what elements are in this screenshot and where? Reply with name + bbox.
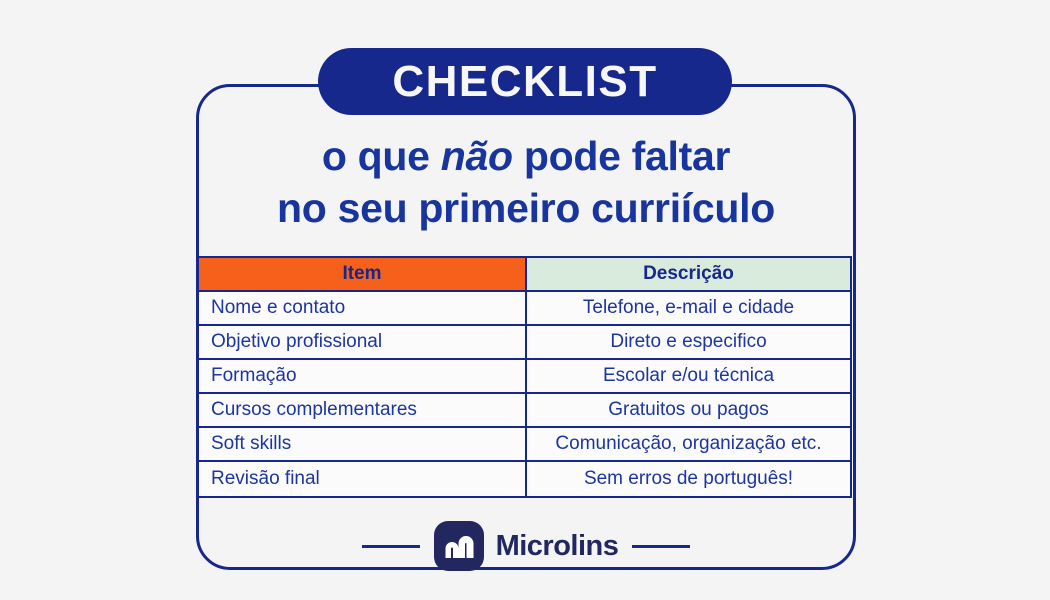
column-header-descricao: Descrição: [527, 258, 850, 290]
table-cell-item: Objetivo profissional: [199, 326, 527, 358]
table-header-row: Item Descrição: [199, 258, 850, 292]
table-cell-item: Formação: [199, 360, 527, 392]
table-row: Formação Escolar e/ou técnica: [199, 360, 850, 394]
table-cell-descricao: Sem erros de português!: [527, 462, 850, 496]
checklist-table: Item Descrição Nome e contato Telefone, …: [197, 256, 852, 498]
headline-line1-after: pode faltar: [513, 133, 730, 179]
table-cell-descricao: Telefone, e-mail e cidade: [527, 292, 850, 324]
headline-line1-before: o que: [322, 133, 441, 179]
table-row: Revisão final Sem erros de português!: [199, 462, 850, 496]
microlins-logo-icon: [434, 521, 484, 571]
divider-line-right: [632, 545, 690, 548]
table-cell-descricao-text: Gratuitos ou pagos: [608, 399, 769, 421]
table-cell-item: Nome e contato: [199, 292, 527, 324]
table-cell-item-text: Revisão final: [211, 468, 320, 490]
table-cell-item: Revisão final: [199, 462, 527, 496]
table-cell-item: Cursos complementares: [199, 394, 527, 426]
table-cell-item-text: Nome e contato: [211, 297, 345, 319]
footer-branding: Microlins: [196, 518, 856, 574]
table-cell-descricao: Comunicação, organização etc.: [527, 428, 850, 460]
table-cell-item-text: Soft skills: [211, 433, 291, 455]
table-cell-descricao: Gratuitos ou pagos: [527, 394, 850, 426]
column-header-item: Item: [199, 258, 527, 290]
divider-line-left: [362, 545, 420, 548]
table-cell-item-text: Cursos complementares: [211, 399, 417, 421]
table-row: Soft skills Comunicação, organização etc…: [199, 428, 850, 462]
table-cell-descricao: Direto e especifico: [527, 326, 850, 358]
table-cell-descricao-text: Escolar e/ou técnica: [603, 365, 774, 387]
table-row: Objetivo profissional Direto e especific…: [199, 326, 850, 360]
table-cell-item: Soft skills: [199, 428, 527, 460]
microlins-logo-text: Microlins: [496, 530, 619, 563]
headline-line-1: o que não pode faltar: [196, 130, 856, 182]
column-header-descricao-label: Descrição: [643, 263, 734, 285]
table-row: Nome e contato Telefone, e-mail e cidade: [199, 292, 850, 326]
table-cell-descricao-text: Direto e especifico: [610, 331, 766, 353]
table-cell-item-text: Formação: [211, 365, 297, 387]
page-title: o que não pode faltar no seu primeiro cu…: [196, 130, 856, 234]
checklist-badge: CHECKLIST: [318, 48, 732, 115]
headline-emphasis: não: [441, 133, 513, 179]
table-cell-descricao-text: Comunicação, organização etc.: [555, 433, 821, 455]
column-header-item-label: Item: [342, 263, 381, 285]
table-row: Cursos complementares Gratuitos ou pagos: [199, 394, 850, 428]
table-cell-item-text: Objetivo profissional: [211, 331, 382, 353]
microlins-logo: Microlins: [434, 521, 619, 571]
table-cell-descricao-text: Sem erros de português!: [584, 468, 793, 490]
table-cell-descricao-text: Telefone, e-mail e cidade: [583, 297, 794, 319]
headline-line-2: no seu primeiro curriículo: [196, 182, 856, 234]
table-cell-descricao: Escolar e/ou técnica: [527, 360, 850, 392]
badge-label: CHECKLIST: [392, 60, 657, 104]
